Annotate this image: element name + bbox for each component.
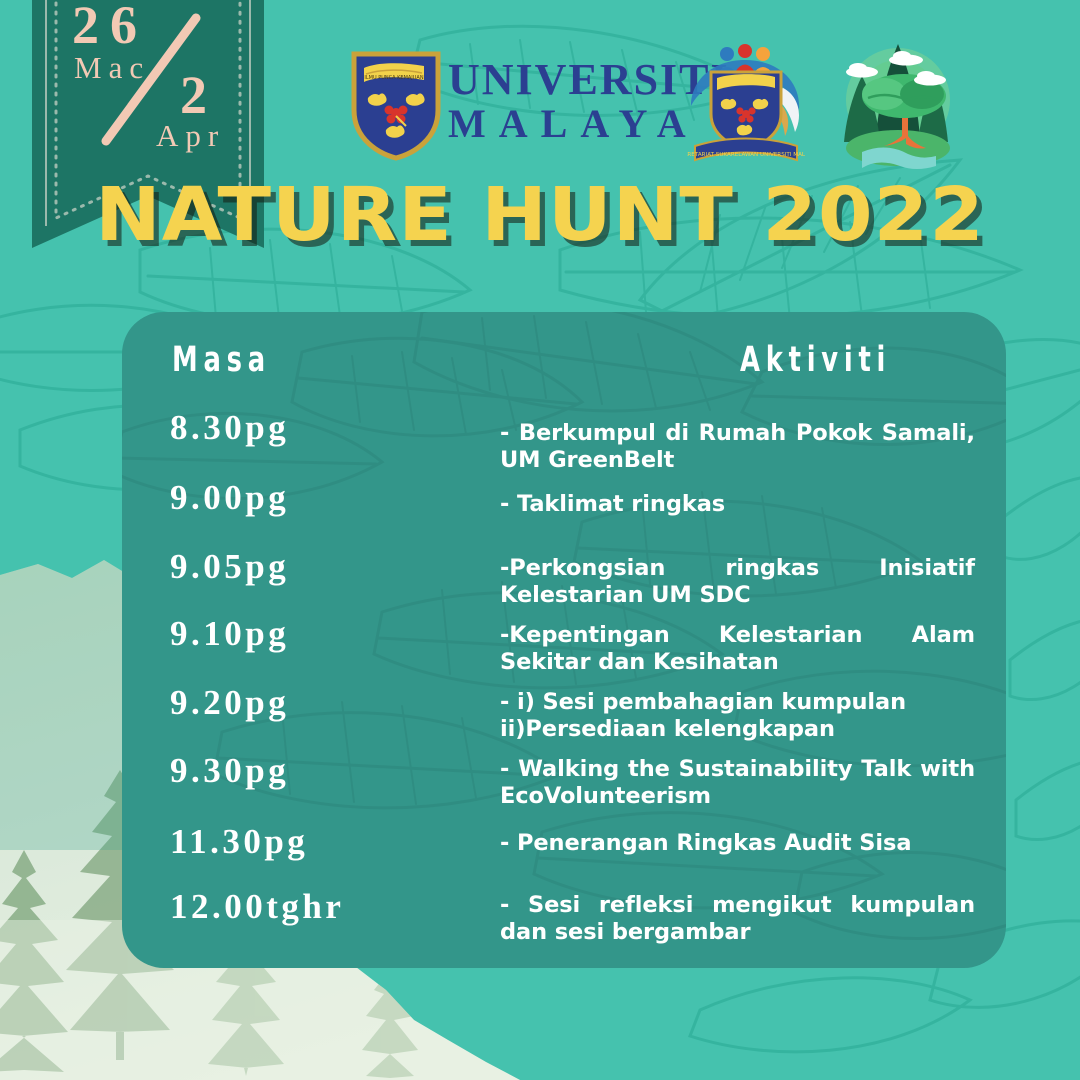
schedule-activity: - Taklimat ringkas [500, 491, 975, 518]
schedule-activity: - Penerangan Ringkas Audit Sisa [500, 830, 975, 857]
column-header-activity: Aktiviti [740, 340, 891, 380]
schedule-panel: Masa Aktiviti 8.30pg- Berkumpul di Rumah… [122, 312, 1006, 968]
schedule-activity: - Sesi refleksi mengikut kumpulan dan se… [500, 892, 975, 946]
schedule-time: 9.30pg [170, 751, 289, 791]
schedule-time: 9.00pg [170, 478, 289, 518]
column-header-time: Masa [172, 340, 271, 380]
schedule-time: 9.05pg [170, 547, 289, 587]
logo-row: ILMU PUNCA KEMAJUAN UNIVERSITI MALAYA [340, 36, 980, 176]
svg-text:ILMU PUNCA KEMAJUAN: ILMU PUNCA KEMAJUAN [364, 75, 423, 81]
schedule-activity: - Walking the Sustainability Talk with E… [500, 756, 975, 810]
schedule-content: Masa Aktiviti 8.30pg- Berkumpul di Rumah… [122, 312, 1006, 968]
schedule-time: 12.00tghr [170, 887, 344, 927]
schedule-time: 9.20pg [170, 683, 289, 723]
schedule-activity: -Kepentingan Kelestarian Alam Sekitar da… [500, 622, 975, 676]
schedule-activity: - i) Sesi pembahagian kumpulan ii)Persed… [500, 689, 975, 743]
schedule-activity: - Berkumpul di Rumah Pokok Samali, UM Gr… [500, 420, 975, 474]
schedule-time: 11.30pg [170, 822, 308, 862]
schedule-time: 9.10pg [170, 614, 289, 654]
schedule-time: 8.30pg [170, 408, 289, 448]
volunteer-logo-caption: SEKRETARIAT SUKARELAWAN UNIVERSITI MALAY… [687, 152, 805, 158]
universiti-malaya-crest-icon: ILMU PUNCA KEMAJUAN [350, 50, 442, 162]
page-title: NATURE HUNT 2022 [0, 172, 1080, 258]
schedule-activity: -Perkongsian ringkas Inisiatif Kelestari… [500, 555, 975, 609]
nature-forest-logo-icon [832, 36, 964, 174]
sekretariat-sukarelawan-logo-icon: SEKRETARIAT SUKARELAWAN UNIVERSITI MALAY… [687, 44, 805, 166]
